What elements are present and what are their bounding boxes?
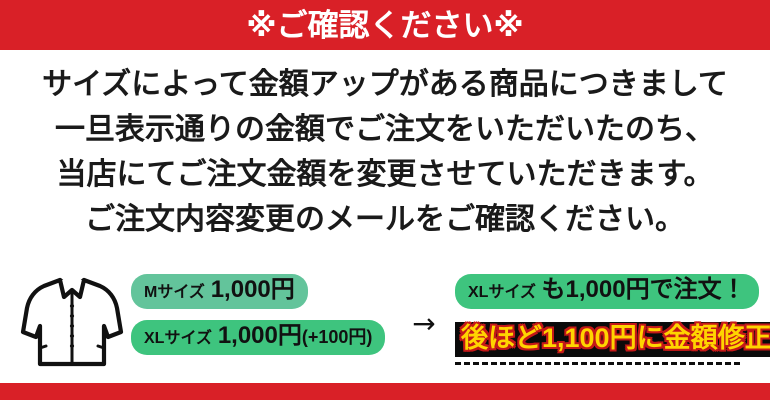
m-size-price: 1,000円 — [211, 276, 295, 303]
dress-shirt-icon — [16, 270, 128, 370]
notice-line-4: ご注文内容変更のメールをご確認ください。 — [0, 197, 770, 242]
notice-line-2: 一旦表示通りの金額でご注文をいただいたのち、 — [0, 107, 770, 152]
xl-size-label: XLサイズ — [144, 330, 212, 347]
xl-size-surcharge: (+100円) — [302, 327, 373, 347]
price-correction-text: 後ほど1,100円に金額修正 — [455, 322, 770, 357]
price-comparison-row: Mサイズ 1,000円 XLサイズ 1,000円(+100円) → XLサイズ … — [0, 266, 770, 378]
notice-line-1: サイズによって金額アップがある商品につきまして — [0, 62, 770, 107]
before-price-tags: Mサイズ 1,000円 XLサイズ 1,000円(+100円) — [131, 274, 387, 355]
xl-size-price: 1,000円 — [218, 322, 302, 349]
footer-bar — [0, 383, 770, 400]
header-title: ※ご確認ください※ — [246, 10, 523, 41]
notice-text-block: サイズによって金額アップがある商品につきまして 一旦表示通りの金額でご注文をいた… — [0, 62, 770, 242]
notice-line-3: 当店にてご注文金額を変更させていただきます。 — [0, 152, 770, 197]
xl-order-size-label: XLサイズ — [468, 284, 536, 301]
price-correction-block: 後ほど1,100円に金額修正 — [455, 322, 755, 365]
xl-order-note-tag: XLサイズ も1,000円で注文！ — [455, 274, 759, 309]
header-banner: ※ご確認ください※ — [0, 0, 770, 50]
m-size-label: Mサイズ — [144, 284, 205, 301]
xl-order-note-text: も1,000円で注文！ — [542, 276, 746, 303]
dashed-underline — [455, 362, 740, 365]
arrow-right-icon: → — [412, 307, 435, 340]
notice-banner-canvas: ※ご確認ください※ サイズによって金額アップがある商品につきまして 一旦表示通り… — [0, 0, 770, 400]
m-size-price-tag: Mサイズ 1,000円 — [131, 274, 308, 309]
transition-arrow: → — [396, 310, 452, 338]
xl-size-price-tag: XLサイズ 1,000円(+100円) — [131, 320, 385, 355]
after-price-tags: XLサイズ も1,000円で注文！ 後ほど1,100円に金額修正 — [455, 274, 755, 365]
